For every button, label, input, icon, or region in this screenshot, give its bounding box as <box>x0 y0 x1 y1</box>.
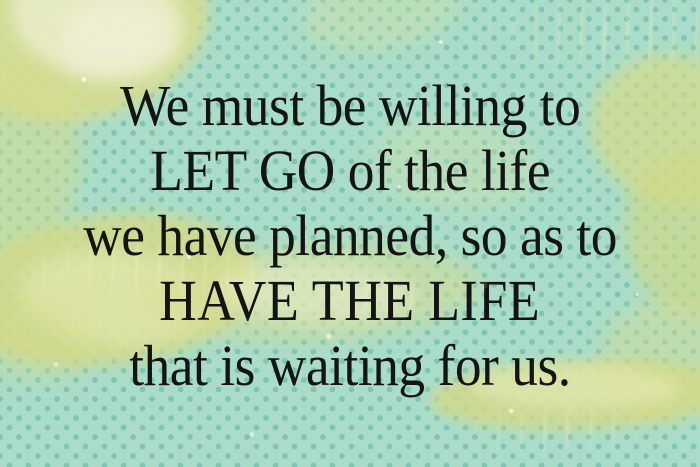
background-scrape-streaks <box>0 0 700 467</box>
quote-poster: We must be willing to LET GO of the life… <box>0 0 700 467</box>
